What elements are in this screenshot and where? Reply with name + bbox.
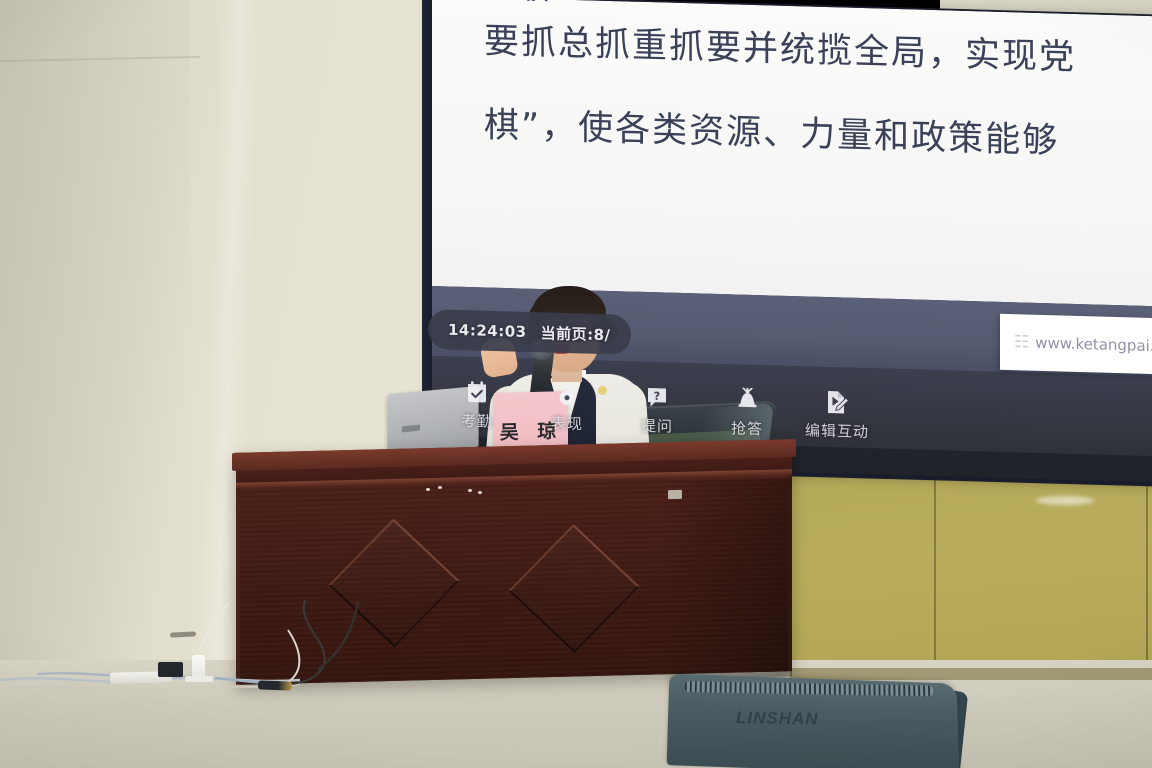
slide-line-3: 棋”，使各类资源、力量和政策能够 bbox=[484, 83, 1152, 187]
baseboard bbox=[790, 668, 1152, 680]
toolbar-label-edit-interaction: 编辑互动 bbox=[805, 419, 869, 442]
power-adapter bbox=[158, 662, 183, 677]
speaker-brand-text: LINSHAN bbox=[736, 708, 819, 729]
toolbar-item-question[interactable]: ? 提问 bbox=[612, 383, 702, 438]
panel-seam bbox=[934, 472, 936, 680]
url-popup-card[interactable]: ☷ www.ketangpai.co bbox=[1000, 314, 1152, 374]
toolbar-label-question: 提问 bbox=[641, 415, 673, 437]
toolbar-label-buzz-in: 抢答 bbox=[731, 417, 763, 439]
wall-panel-olive bbox=[790, 472, 1152, 682]
slide-text-block: 德领…… 要抓总抓重抓要并统揽全局，实现党 棋”，使各类资源、力量和政策能够 bbox=[484, 0, 1152, 187]
toolbar-item-edit-interaction[interactable]: 编辑互动 bbox=[792, 388, 882, 443]
url-text: www.ketangpai.co bbox=[1035, 334, 1152, 356]
slide-surface: 德领…… 要抓总抓重抓要并统揽全局，实现党 棋”，使各类资源、力量和政策能够 bbox=[432, 0, 1152, 306]
question-bubble-icon: ? bbox=[646, 384, 668, 411]
panel-seam bbox=[1146, 472, 1148, 680]
calendar-check-icon bbox=[466, 379, 488, 406]
link-icon: ☷ bbox=[1014, 332, 1028, 352]
clock-text: 14:24:03 bbox=[448, 321, 527, 341]
white-plug-base bbox=[185, 676, 213, 682]
podium-latch bbox=[668, 490, 682, 499]
medal-icon bbox=[557, 381, 577, 408]
speaker-grill bbox=[685, 681, 933, 696]
toolbar-item-buzz-in[interactable]: 抢答 bbox=[702, 386, 792, 441]
monitor-speaker: LINSHAN bbox=[667, 674, 960, 768]
photo-scene: 德领…… 要抓总抓重抓要并统揽全局，实现党 棋”，使各类资源、力量和政策能够 1… bbox=[0, 0, 1152, 768]
toolbar-item-performance[interactable]: 表现 bbox=[522, 381, 612, 436]
bell-icon bbox=[736, 386, 759, 413]
svg-text:?: ? bbox=[654, 389, 660, 402]
page-indicator-text: 当前页:8/ bbox=[541, 322, 611, 345]
cable-connector bbox=[258, 680, 292, 690]
floor-cables bbox=[0, 600, 760, 768]
toolbar-label-attendance: 考勤 bbox=[461, 410, 493, 432]
toolbar-label-performance: 表现 bbox=[551, 412, 583, 434]
toolbar-item-attendance[interactable]: 考勤 bbox=[432, 378, 522, 433]
status-pill: 14:24:03 当前页:8/ bbox=[428, 309, 631, 355]
panel-highlight bbox=[1036, 496, 1094, 505]
edit-document-icon bbox=[825, 389, 849, 416]
laptop-logo bbox=[402, 424, 420, 432]
